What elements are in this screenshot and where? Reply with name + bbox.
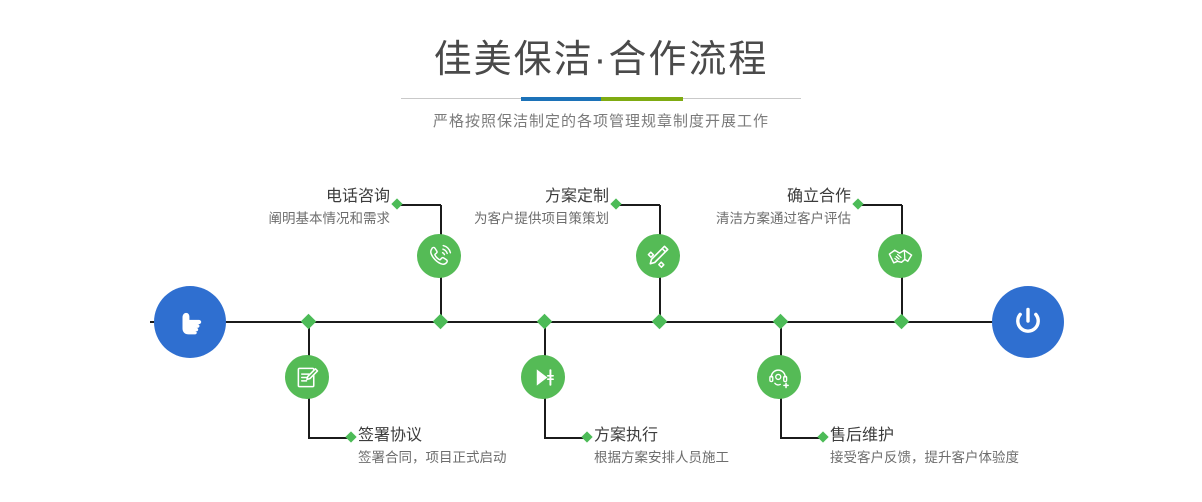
timeline-marker-1 — [433, 314, 449, 330]
label-marker-5 — [852, 198, 863, 209]
timeline-marker-5 — [894, 314, 910, 330]
timeline-marker-3 — [652, 314, 668, 330]
play-execute-icon — [531, 365, 556, 390]
handshake-icon — [887, 243, 914, 270]
step-icon-6[interactable] — [757, 355, 801, 399]
step-icon-5[interactable] — [878, 234, 922, 278]
label-marker-2 — [345, 431, 356, 442]
step-icon-1[interactable] — [417, 234, 461, 278]
step-title-3: 方案定制 — [455, 186, 609, 208]
sign-document-icon — [295, 365, 320, 390]
step-desc-3: 为客户提供项目策策划 — [455, 209, 609, 229]
step-label-1: 电话咨询 阐明基本情况和需求 — [245, 186, 390, 229]
step-desc-2: 签署合同，项目正式启动 — [358, 448, 588, 468]
step-icon-4[interactable] — [521, 355, 565, 399]
timeline-end-node[interactable] — [992, 286, 1064, 358]
timeline-start-node[interactable] — [154, 286, 226, 358]
step-desc-5: 清洁方案通过客户评估 — [700, 209, 851, 229]
step-label-2: 签署协议 签署合同，项目正式启动 — [358, 425, 588, 468]
cooperation-process-infographic: 佳美保洁·合作流程 严格按照保洁制定的各项管理规章制度开展工作 — [0, 0, 1202, 502]
label-marker-3 — [610, 198, 621, 209]
connector-horizontal-5 — [859, 204, 902, 206]
step-desc-4: 根据方案安排人员施工 — [594, 448, 824, 468]
timeline-marker-4 — [537, 314, 553, 330]
step-title-5: 确立合作 — [700, 186, 851, 208]
timeline-axis — [150, 321, 1050, 323]
power-icon — [1008, 302, 1048, 342]
step-label-3: 方案定制 为客户提供项目策策划 — [455, 186, 609, 229]
step-title-4: 方案执行 — [594, 425, 824, 447]
customer-service-icon — [767, 365, 792, 390]
connector-horizontal-2 — [308, 437, 351, 439]
step-desc-1: 阐明基本情况和需求 — [245, 209, 390, 229]
pencil-icon — [645, 243, 671, 269]
connector-horizontal-3 — [617, 204, 660, 206]
step-title-1: 电话咨询 — [245, 186, 390, 208]
connector-horizontal-1 — [398, 204, 441, 206]
label-marker-1 — [391, 198, 402, 209]
pointing-hand-icon — [170, 302, 210, 342]
timeline-marker-2 — [301, 314, 317, 330]
step-label-5: 确立合作 清洁方案通过客户评估 — [700, 186, 851, 229]
step-label-6: 售后维护 接受客户反馈，提升客户体验度 — [830, 425, 1080, 468]
timeline-marker-6 — [773, 314, 789, 330]
step-icon-2[interactable] — [285, 355, 329, 399]
process-timeline: 电话咨询 阐明基本情况和需求 签署协议 签署合同，项目正式启动 — [0, 0, 1202, 502]
phone-call-icon — [426, 243, 453, 270]
step-desc-6: 接受客户反馈，提升客户体验度 — [830, 448, 1080, 468]
step-title-6: 售后维护 — [830, 425, 1080, 447]
step-title-2: 签署协议 — [358, 425, 588, 447]
step-label-4: 方案执行 根据方案安排人员施工 — [594, 425, 824, 468]
step-icon-3[interactable] — [636, 234, 680, 278]
